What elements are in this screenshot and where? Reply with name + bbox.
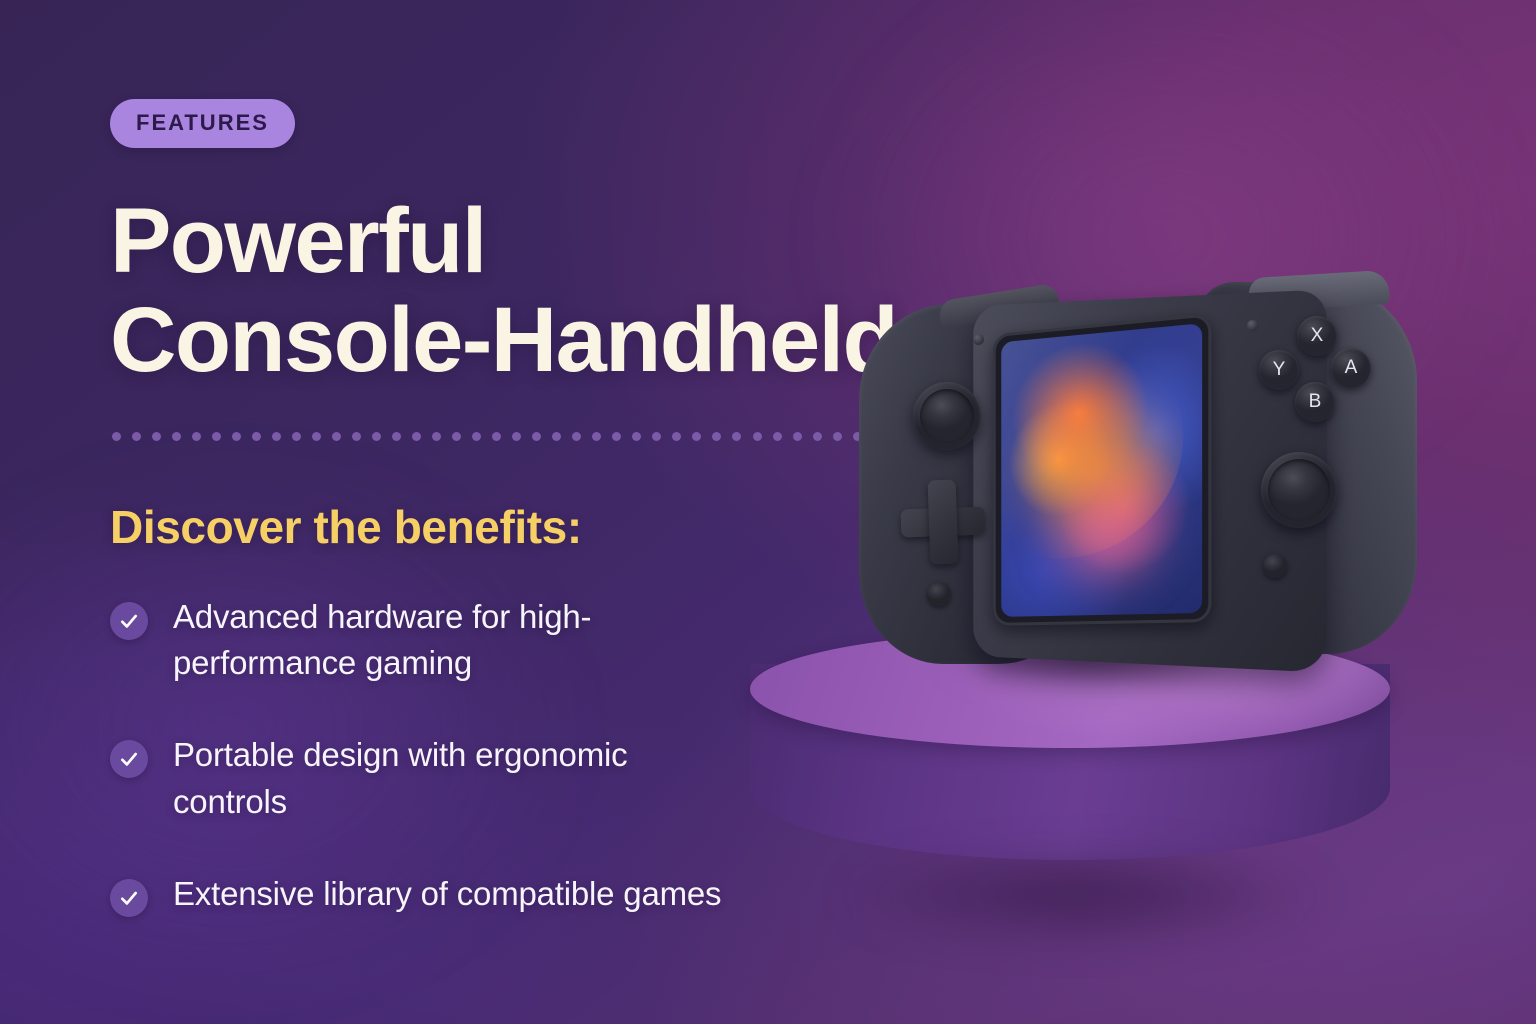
list-item: Portable design with ergonomic controls: [110, 732, 750, 824]
dpad-icon: [900, 479, 987, 566]
benefits-list: Advanced hardware for high-performance g…: [110, 594, 750, 963]
list-item-label: Advanced hardware for high-performance g…: [173, 594, 750, 686]
face-button-a: A: [1331, 348, 1371, 388]
left-analog-stick: [913, 382, 981, 450]
handheld-console: X Y A B: [865, 272, 1425, 672]
features-badge: FEATURES: [110, 99, 295, 148]
select-button: [927, 582, 951, 606]
podium-shadow: [740, 836, 1430, 956]
check-icon: [110, 602, 148, 640]
list-item: Extensive library of compatible games: [110, 871, 750, 917]
start-button: [1263, 554, 1287, 578]
list-item: Advanced hardware for high-performance g…: [110, 594, 750, 686]
poster-canvas: FEATURES Powerful Console-Handheld Disco…: [0, 0, 1536, 1024]
check-icon: [110, 740, 148, 778]
console-screen-bezel: [993, 313, 1211, 626]
screen-glare: [1001, 323, 1202, 617]
console-screen: [1001, 323, 1202, 617]
benefits-subheading: Discover the benefits:: [110, 500, 582, 554]
left-sensor-icon: [973, 334, 984, 345]
list-item-label: Portable design with ergonomic controls: [173, 732, 750, 824]
face-button-y: Y: [1259, 350, 1299, 390]
face-button-x: X: [1297, 316, 1337, 356]
product-scene: X Y A B: [690, 0, 1536, 1024]
face-button-cluster: X Y A B: [1257, 316, 1375, 428]
face-button-b: B: [1295, 382, 1335, 422]
check-icon: [110, 879, 148, 917]
right-analog-stick: [1261, 452, 1337, 528]
headline-line-1: Powerful: [110, 190, 486, 292]
list-item-label: Extensive library of compatible games: [173, 871, 721, 917]
